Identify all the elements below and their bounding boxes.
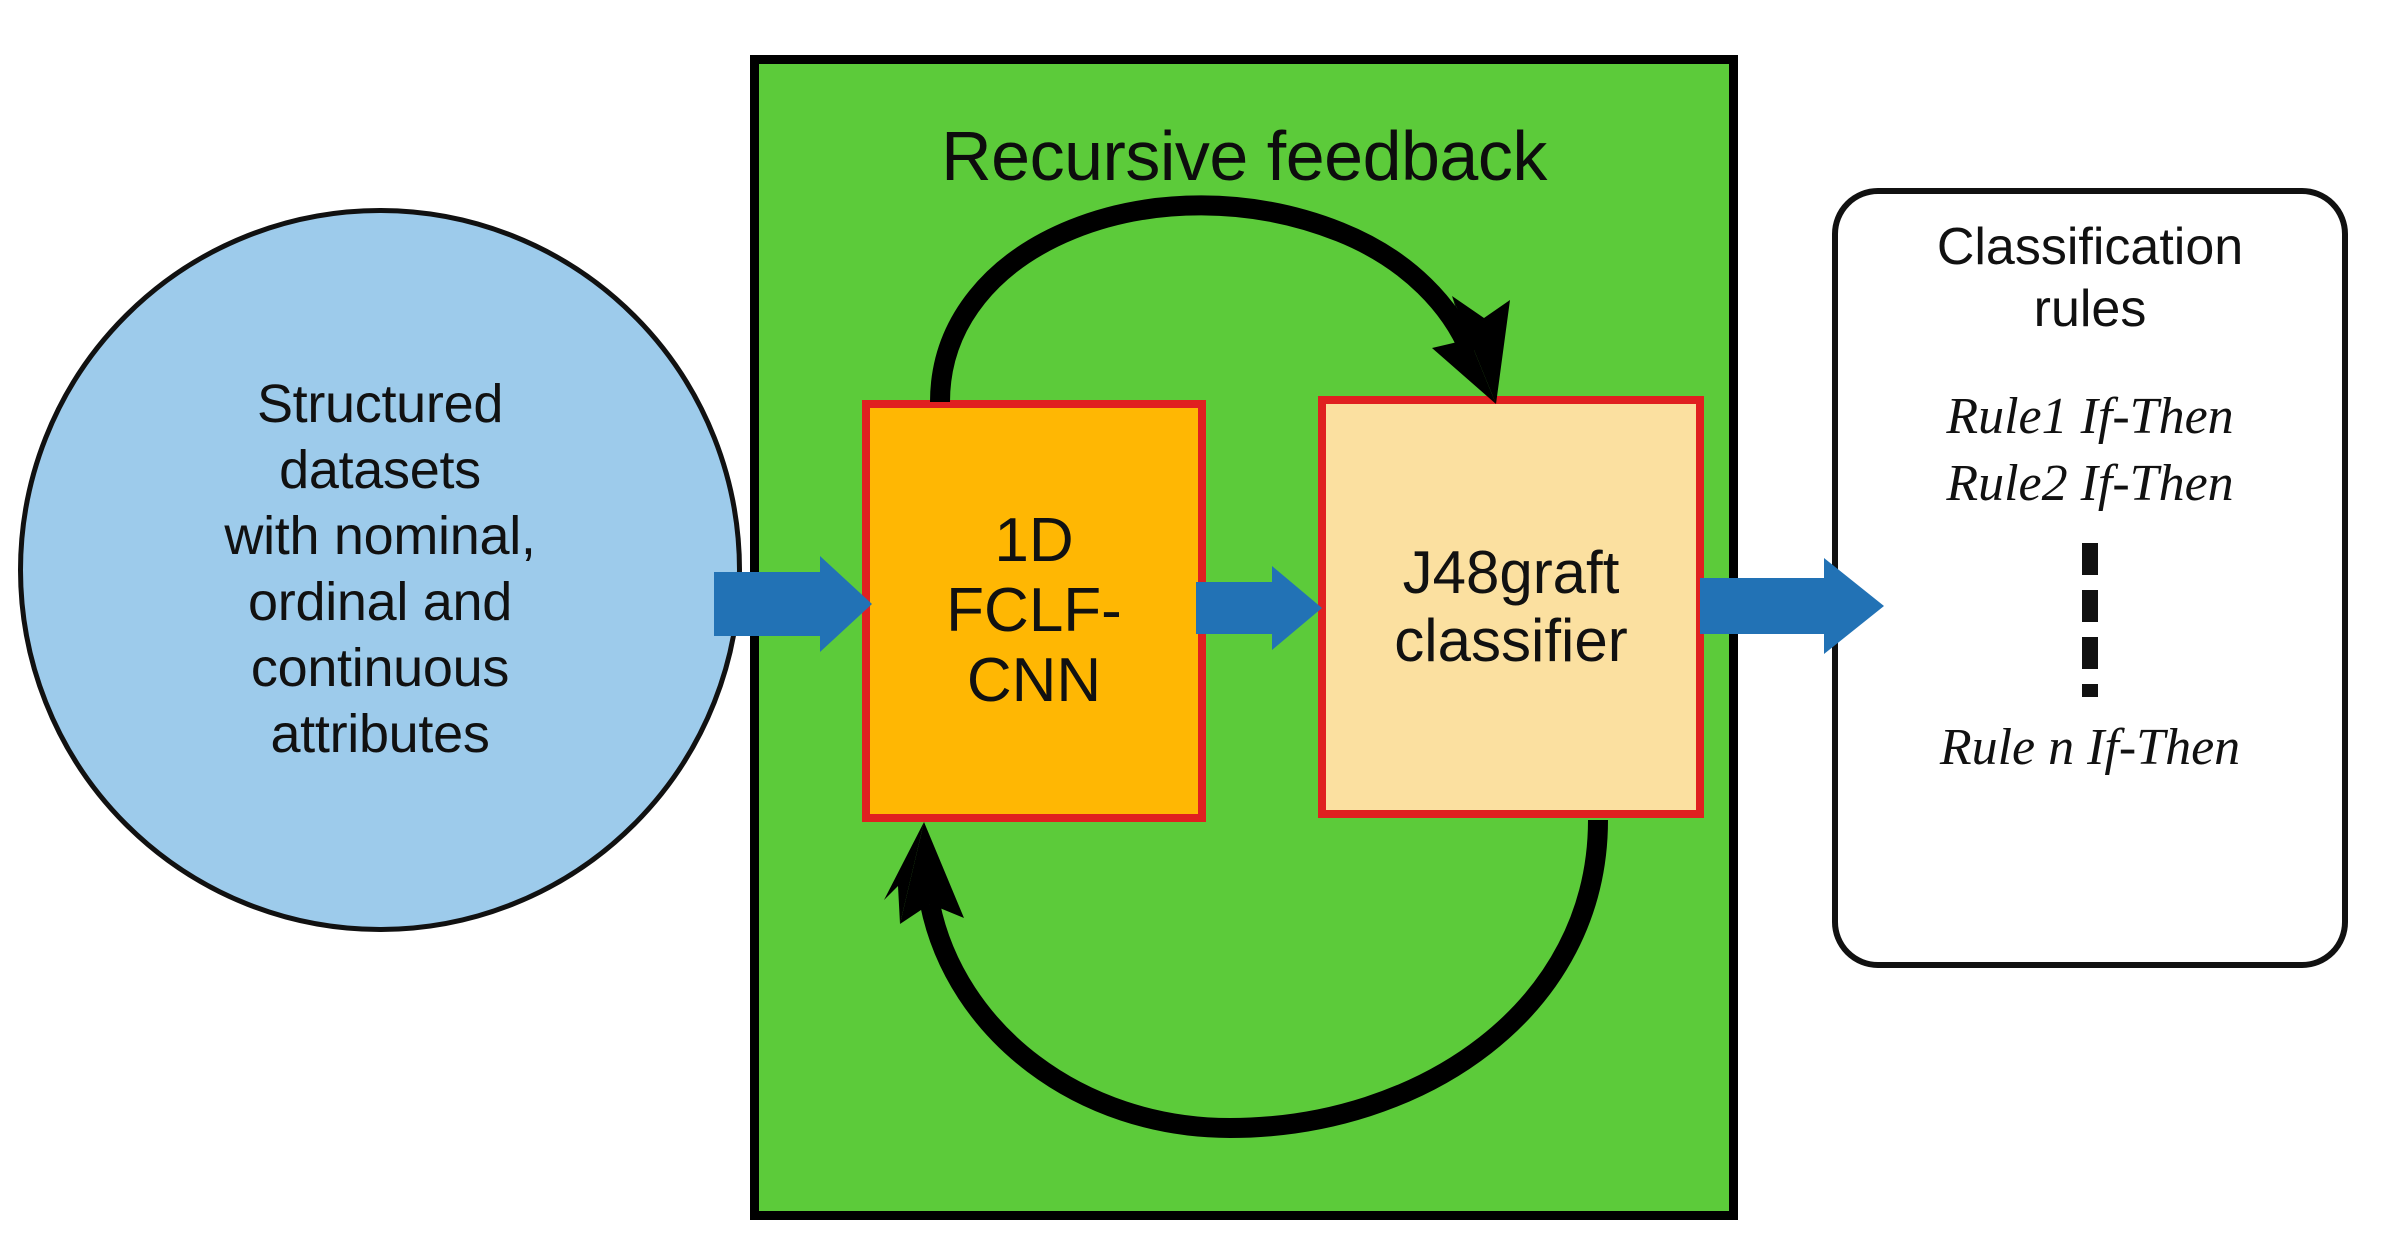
block-j48graft-classifier-label: J48graft classifier bbox=[1394, 539, 1627, 675]
ellipsis-dash-2 bbox=[2082, 590, 2098, 622]
ellipsis-dash-3 bbox=[2082, 637, 2098, 669]
rule-item-1: Rule1 If-Then bbox=[1838, 384, 2342, 451]
recursive-feedback-title: Recursive feedback bbox=[759, 116, 1729, 196]
classification-rules-title: Classification rules bbox=[1838, 216, 2342, 341]
rule-item-n: Rule n If-Then bbox=[1838, 715, 2342, 782]
rule-item-2: Rule2 If-Then bbox=[1838, 451, 2342, 518]
pipeline-diagram: Structured datasets with nominal, ordina… bbox=[0, 0, 2389, 1254]
block-1d-fclf-cnn-label: 1D FCLF- CNN bbox=[946, 506, 1122, 716]
vertical-ellipsis-icon bbox=[2082, 543, 2098, 697]
output-classification-rules-box: Classification rules Rule1 If-Then Rule2… bbox=[1832, 188, 2348, 968]
input-dataset-label: Structured datasets with nominal, ordina… bbox=[184, 372, 575, 767]
block-1d-fclf-cnn: 1D FCLF- CNN bbox=[862, 400, 1206, 822]
input-dataset-circle: Structured datasets with nominal, ordina… bbox=[18, 208, 742, 932]
ellipsis-dash-4 bbox=[2082, 684, 2098, 697]
ellipsis-dash-1 bbox=[2082, 543, 2098, 575]
classification-rules-list: Rule1 If-Then Rule2 If-Then Rule n If-Th… bbox=[1838, 384, 2342, 782]
block-j48graft-classifier: J48graft classifier bbox=[1318, 396, 1704, 818]
